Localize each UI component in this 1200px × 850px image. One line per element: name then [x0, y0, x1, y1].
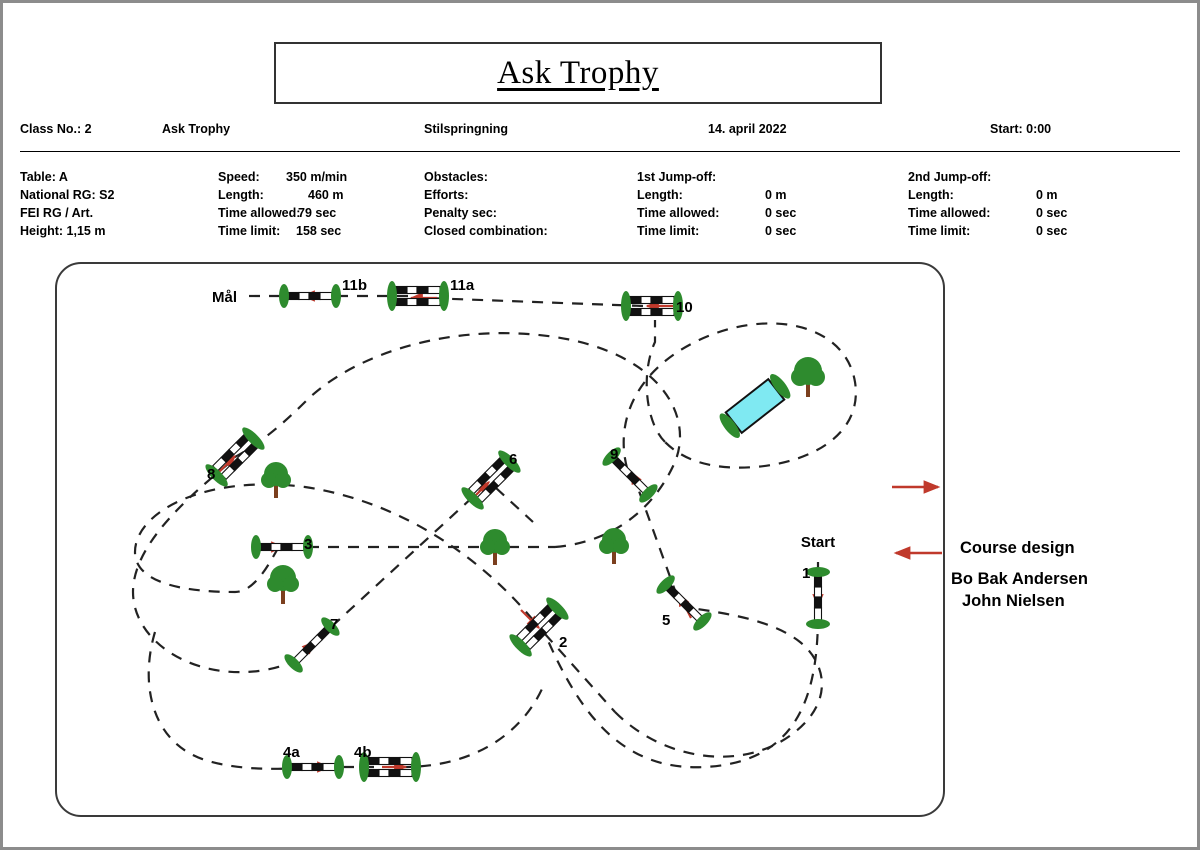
- info-label: Efforts:: [424, 186, 468, 204]
- info-row: Length: 460 m: [218, 186, 418, 204]
- info-value: 0 sec: [765, 204, 796, 222]
- info-row: Time allowed: 0 sec: [637, 204, 887, 222]
- jump-pole-segment: [630, 297, 641, 304]
- start-label: Start: [801, 534, 835, 551]
- jump-pole-segment: [815, 597, 822, 608]
- obstacle-number-11b: 11b: [342, 277, 367, 294]
- info-row: 2nd Jump-off:: [908, 168, 1168, 186]
- jump-pole-segment: [379, 770, 389, 777]
- info-row: Length: 0 m: [908, 186, 1168, 204]
- path-1-to-2: [545, 614, 818, 767]
- jump-pole-segment: [292, 544, 304, 551]
- jump-pole-segment: [428, 299, 440, 306]
- path-9-to-10: [624, 323, 856, 468]
- info-label: Penalty sec:: [424, 204, 497, 222]
- info-value: 158 sec: [296, 222, 341, 240]
- header-discipline: Stilspringning: [424, 122, 508, 136]
- jump-pole-segment: [630, 309, 641, 316]
- info-value: 350 m/min: [286, 168, 347, 186]
- info-label: 1st Jump-off:: [637, 168, 716, 186]
- jump-standard-right: [331, 284, 341, 308]
- info-row: Table: A: [20, 168, 210, 186]
- jump-pole-segment: [407, 299, 417, 306]
- info-label: Time limit:: [218, 222, 280, 240]
- jump-pole-segment: [389, 758, 400, 765]
- obstacle-number-6: 6: [509, 451, 517, 468]
- jump-pole-segment: [320, 293, 332, 300]
- jump-pole-segment: [389, 770, 400, 777]
- info-row: Time limit: 0 sec: [908, 222, 1168, 240]
- jump-standard-left: [251, 535, 261, 559]
- info-row: Closed combination:: [424, 222, 624, 240]
- obstacle-11a: [387, 281, 449, 311]
- jump-pole-segment: [651, 309, 662, 316]
- designer-name-1: Bo Bak Andersen: [951, 570, 1088, 589]
- obstacle-labels: 1234a4b567891011a11b: [207, 277, 810, 761]
- jump-pole-segment: [260, 544, 271, 551]
- info-value: 460 m: [308, 186, 343, 204]
- header-date: 14. april 2022: [708, 122, 787, 136]
- header-row: Class No.: 2 Ask Trophy Stilspringning 1…: [0, 122, 1200, 146]
- info-label: Closed combination:: [424, 222, 548, 240]
- class-info-block: Table: A National RG: S2 FEI RG / Art. H…: [0, 168, 1200, 246]
- jump-pole-segment: [368, 770, 379, 777]
- tree-icon: [267, 565, 299, 604]
- course-design-title: Course design: [960, 539, 1075, 558]
- info-row: Height: 1,15 m: [20, 222, 210, 240]
- info-column-jumpoff-1: 1st Jump-off: Length: 0 m Time allowed: …: [637, 168, 887, 240]
- header-event-name: Ask Trophy: [162, 122, 230, 136]
- side-arrows: [880, 465, 990, 580]
- jump-pole-segment: [396, 287, 407, 294]
- jump-pole-segment: [299, 293, 309, 300]
- jump-standard-right: [334, 755, 344, 779]
- jump-pole-segment: [379, 758, 389, 765]
- info-row: Length: 0 m: [637, 186, 887, 204]
- info-label: Speed:: [218, 168, 260, 186]
- path-to-4a: [149, 632, 303, 769]
- jump-standard-left: [621, 291, 631, 321]
- info-value: 0 sec: [765, 222, 796, 240]
- jump-pole-segment: [662, 297, 674, 304]
- info-value: 0 m: [1036, 186, 1058, 204]
- path-6-to-2: [496, 488, 533, 522]
- jump-pole-segment: [407, 287, 417, 294]
- page-title: Ask Trophy: [497, 55, 659, 92]
- obstacle-number-2: 2: [559, 634, 567, 651]
- jump-standard-right: [439, 281, 449, 311]
- path-10-to-11a: [427, 298, 643, 306]
- info-label: National RG: S2: [20, 186, 114, 204]
- info-label: 2nd Jump-off:: [908, 168, 991, 186]
- obstacle-number-1: 1: [802, 565, 810, 582]
- jump-pole-segment: [312, 764, 323, 771]
- info-column-jumpoff-2: 2nd Jump-off: Length: 0 m Time allowed: …: [908, 168, 1168, 240]
- info-row: Penalty sec:: [424, 204, 624, 222]
- header-class-no: Class No.: 2: [20, 122, 92, 136]
- jump-pole-segment: [417, 299, 428, 306]
- info-row: Time allowed: 79 sec: [218, 204, 418, 222]
- info-value: 0 sec: [1036, 222, 1067, 240]
- obstacle-number-3: 3: [304, 536, 312, 553]
- jump-pole-segment: [662, 309, 674, 316]
- water-jump-obstacle: [716, 371, 794, 441]
- obstacle-9: [600, 445, 661, 506]
- jump-pole-segment: [651, 297, 662, 304]
- info-label: Length:: [637, 186, 683, 204]
- obstacle-number-4b: 4b: [354, 744, 372, 761]
- course-diagram: 1234a4b567891011a11b Start Mål: [55, 262, 945, 817]
- header-start-time: Start: 0:00: [990, 122, 1051, 136]
- info-row: Obstacles:: [424, 168, 624, 186]
- obstacle-number-11a: 11a: [450, 277, 475, 294]
- jump-pole-segment: [302, 764, 312, 771]
- obstacle-number-4a: 4a: [283, 744, 300, 761]
- header-divider: [20, 151, 1180, 152]
- title-box: Ask Trophy: [274, 42, 882, 104]
- info-label: Length:: [908, 186, 954, 204]
- tree-icon: [791, 357, 825, 397]
- jump-pole-segment: [428, 287, 440, 294]
- jump-pole-segment: [291, 764, 302, 771]
- jump-pole-segment: [309, 293, 320, 300]
- info-value: 0 sec: [1036, 204, 1067, 222]
- jump-pole-segment: [323, 764, 335, 771]
- obstacle-number-9: 9: [610, 446, 618, 463]
- jump-pole-segment: [641, 309, 651, 316]
- info-label: Time limit:: [908, 222, 970, 240]
- tree-decorations: [261, 357, 825, 604]
- obstacle-number-5: 5: [662, 612, 670, 629]
- jump-pole-segment: [815, 608, 822, 620]
- info-column-general: Table: A National RG: S2 FEI RG / Art. H…: [20, 168, 210, 240]
- path-3-to-6: [233, 333, 680, 547]
- info-value: 0 m: [765, 186, 787, 204]
- jump-standard-left: [387, 281, 397, 311]
- jump-pole-segment: [271, 544, 281, 551]
- info-label: Time allowed:: [218, 204, 300, 222]
- path-direction-arrows: [219, 296, 818, 767]
- jump-pole-segment: [396, 299, 407, 306]
- obstacle-group: [202, 281, 830, 782]
- course-plan-page: Ask Trophy Class No.: 2 Ask Trophy Stils…: [0, 0, 1200, 850]
- obstacle-number-7: 7: [330, 616, 338, 633]
- info-row: Time limit: 0 sec: [637, 222, 887, 240]
- info-label: Table: A: [20, 168, 68, 186]
- info-row: Time allowed: 0 sec: [908, 204, 1168, 222]
- info-label: Time allowed:: [908, 204, 990, 222]
- jump-pole-segment: [288, 293, 299, 300]
- info-row: FEI RG / Art.: [20, 204, 210, 222]
- info-label: Length:: [218, 186, 264, 204]
- jump-pole-segment: [400, 770, 412, 777]
- info-column-obstacles: Obstacles: Efforts: Penalty sec: Closed …: [424, 168, 624, 240]
- info-label: Time limit:: [637, 222, 699, 240]
- obstacle-11b: [279, 284, 341, 308]
- jump-pole-segment: [400, 758, 412, 765]
- path-4b-onward: [400, 682, 545, 767]
- info-row: Efforts:: [424, 186, 624, 204]
- jump-pole-segment: [815, 587, 822, 597]
- tree-icon: [480, 529, 510, 565]
- info-column-measures: Speed: 350 m/min Length: 460 m Time allo…: [218, 168, 418, 240]
- info-row: Time limit: 158 sec: [218, 222, 418, 240]
- path-7-to-6: [317, 484, 487, 640]
- info-row: Speed: 350 m/min: [218, 168, 418, 186]
- jump-standard-right: [411, 752, 421, 782]
- info-row: National RG: S2: [20, 186, 210, 204]
- jump-pole-segment: [281, 544, 292, 551]
- designer-name-2: John Nielsen: [962, 592, 1065, 611]
- jump-standard-right: [806, 619, 830, 629]
- info-label: Height: 1,15 m: [20, 222, 105, 240]
- tree-icon: [599, 528, 629, 564]
- info-row: 1st Jump-off:: [637, 168, 887, 186]
- info-label: Obstacles:: [424, 168, 488, 186]
- path-2-to-5: [615, 608, 822, 757]
- tree-icon: [261, 462, 291, 498]
- jump-pole-segment: [641, 297, 651, 304]
- info-label: FEI RG / Art.: [20, 204, 93, 222]
- finish-label: Mål: [212, 289, 237, 306]
- info-value: 79 sec: [298, 204, 336, 222]
- jump-standard-left: [279, 284, 289, 308]
- jump-pole-segment: [417, 287, 428, 294]
- obstacle-number-8: 8: [207, 466, 215, 483]
- jump-pole-segment: [815, 576, 822, 587]
- info-label: Time allowed:: [637, 204, 719, 222]
- obstacle-number-10: 10: [676, 299, 693, 316]
